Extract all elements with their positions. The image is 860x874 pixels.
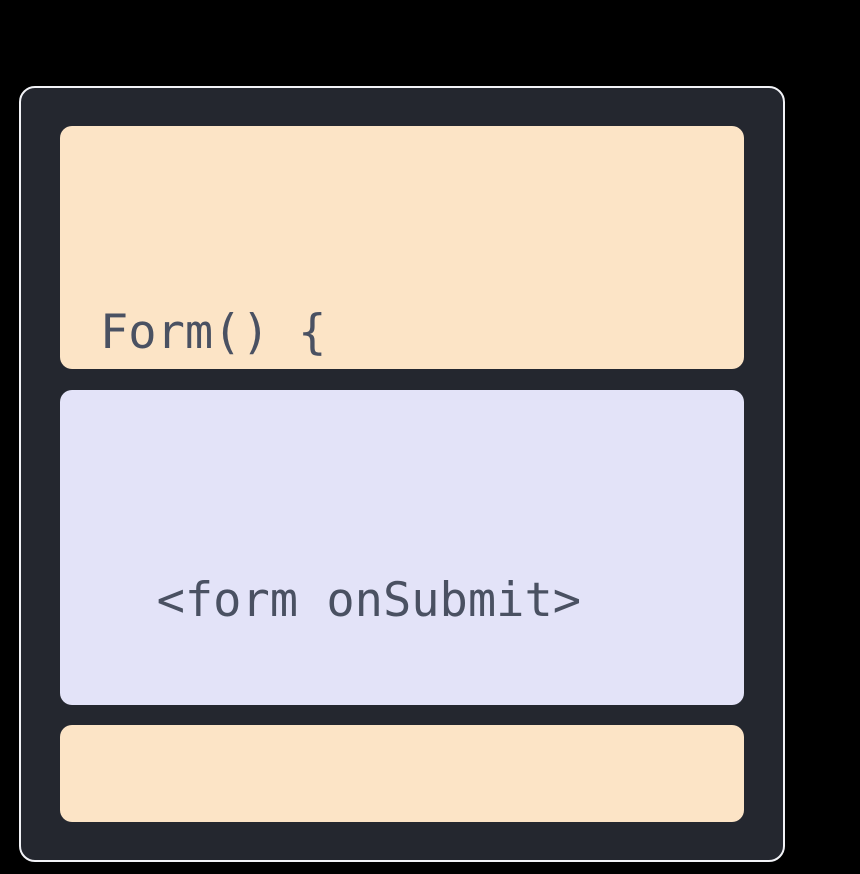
component-code-card: Form() { onClick() {...} onSubmit() {...… <box>19 86 785 862</box>
code-block-jsx-markup[interactable]: <form onSubmit> <input onClick /> <input… <box>60 390 744 705</box>
code-line: Form() { <box>60 296 744 369</box>
canvas: Form() { onClick() {...} onSubmit() {...… <box>0 0 860 874</box>
code-block-js-tail[interactable]: } <box>60 725 744 822</box>
code-block-js-head[interactable]: Form() { onClick() {...} onSubmit() {...… <box>60 126 744 369</box>
code-line: <form onSubmit> <box>60 564 744 638</box>
